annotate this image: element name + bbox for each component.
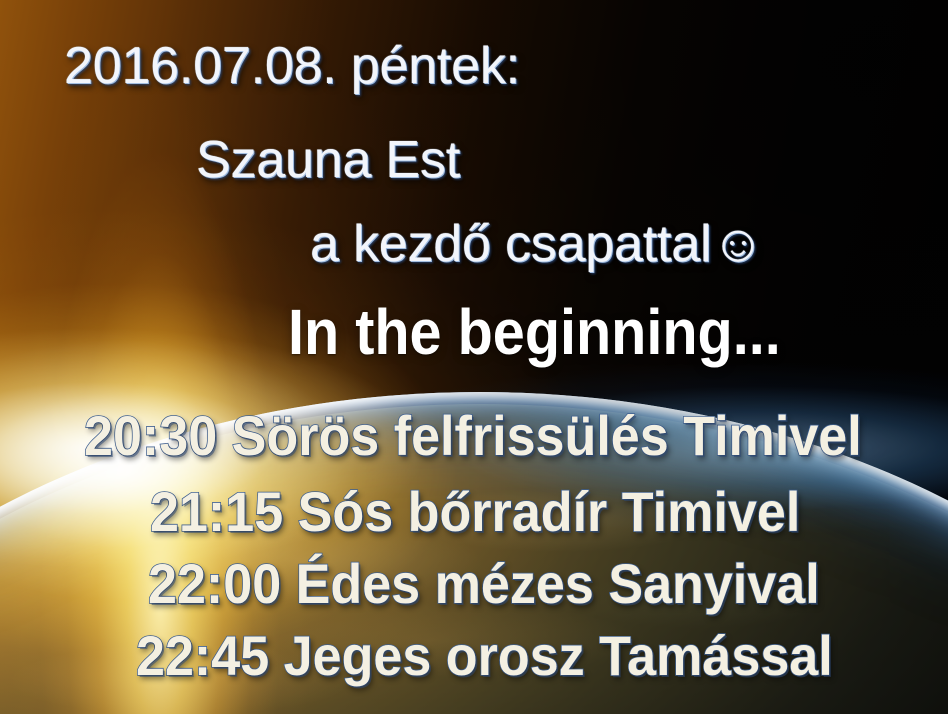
event-title-line: Szauna Est: [196, 134, 460, 186]
slide-content: 2016.07.08. péntek: Szauna Est a kezdő c…: [0, 0, 948, 714]
schedule-item-2: 21:15 Sós bőrradír Timivel: [150, 484, 800, 540]
event-subtitle-text: a kezdő csapattal: [310, 215, 711, 273]
schedule-item-1: 20:30 Sörös felfrissülés Timivel: [84, 408, 862, 464]
smiley-face-icon: ☺: [711, 215, 764, 273]
event-date-line: 2016.07.08. péntek:: [64, 40, 520, 92]
tagline: In the beginning...: [288, 300, 781, 364]
schedule-item-3: 22:00 Édes mézes Sanyival: [148, 556, 820, 612]
presentation-slide: 2016.07.08. péntek: Szauna Est a kezdő c…: [0, 0, 948, 714]
event-subtitle-line: a kezdő csapattal☺: [310, 218, 764, 270]
schedule-item-4: 22:45 Jeges orosz Tamással: [136, 628, 833, 684]
